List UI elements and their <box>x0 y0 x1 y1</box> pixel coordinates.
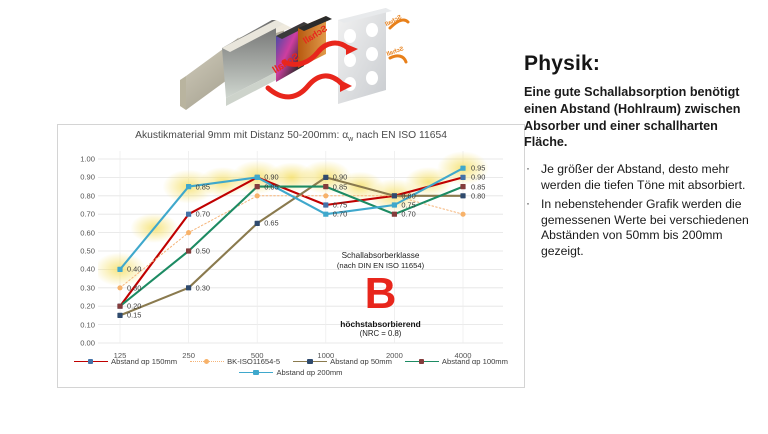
chart-container: Akustikmaterial 9mm mit Distanz 50-200mm… <box>57 124 525 388</box>
bullet-item: ·In nebenstehender Grafik werden die gem… <box>524 197 762 260</box>
bullet-text: Je größer der Abstand, desto mehr werden… <box>541 162 745 192</box>
data-point-marker <box>323 184 328 189</box>
legend-label: BK-ISO11654-5 <box>227 357 280 366</box>
point-value-label: 0.65 <box>264 219 278 228</box>
point-value-label: 0.15 <box>127 311 141 320</box>
data-point-marker <box>460 166 465 171</box>
slide-root: Schall Schall Schall Schall Akustikmater… <box>0 0 768 434</box>
point-value-label: 0.20 <box>127 302 141 311</box>
point-value-label: 0.85 <box>333 182 347 191</box>
data-point-marker <box>186 285 191 290</box>
legend-marker-icon <box>204 359 209 364</box>
y-axis-tick-labels: 1.000.900.800.700.600.500.400.300.200.10… <box>61 145 95 353</box>
y-tick-label: 0.10 <box>80 320 95 329</box>
legend-swatch-icon <box>405 358 439 366</box>
data-point-marker <box>117 285 122 290</box>
data-point-marker <box>460 184 465 189</box>
y-tick-label: 0.80 <box>80 191 95 200</box>
data-point-marker <box>323 175 328 180</box>
data-point-marker <box>186 248 191 253</box>
point-value-label: 0.75 <box>401 201 415 210</box>
y-tick-label: 1.00 <box>80 155 95 164</box>
data-point-marker <box>392 212 397 217</box>
point-value-label: 0.85 <box>264 182 278 191</box>
data-point-marker <box>186 230 191 235</box>
y-tick-label: 0.50 <box>80 247 95 256</box>
point-value-label: 0.90 <box>333 173 347 182</box>
point-value-label: 0.50 <box>196 247 210 256</box>
data-point-marker <box>255 184 260 189</box>
point-value-label: 0.75 <box>333 201 347 210</box>
acoustic-panel-illustration: Schall Schall Schall Schall <box>180 2 412 120</box>
data-point-marker <box>117 313 122 318</box>
plot-area: 0.400.300.200.150.850.700.500.300.900.85… <box>98 151 503 347</box>
legend-item[interactable]: Abstand αp 200mm <box>239 368 342 377</box>
data-point-marker <box>117 304 122 309</box>
text-panel: Physik: Eine gute Schallabsorption benöt… <box>524 52 762 263</box>
data-point-marker <box>323 193 328 198</box>
legend-swatch-icon <box>74 358 108 366</box>
point-value-label: 0.70 <box>333 210 347 219</box>
y-tick-label: 0.30 <box>80 283 95 292</box>
data-point-marker <box>323 202 328 207</box>
chart-title: Akustikmaterial 9mm mit Distanz 50-200mm… <box>58 130 524 143</box>
data-point-marker <box>460 175 465 180</box>
legend-label: Abstand αp 50mm <box>330 357 392 366</box>
legend-marker-icon <box>88 359 93 364</box>
legend-item[interactable]: Abstand αp 150mm <box>74 357 177 366</box>
point-value-label: 0.30 <box>127 283 141 292</box>
legend-marker-icon <box>253 370 258 375</box>
data-point-marker <box>392 193 397 198</box>
legend-swatch-icon <box>293 358 327 366</box>
data-point-marker <box>255 193 260 198</box>
bullet-text: In nebenstehender Grafik werden die geme… <box>541 197 749 259</box>
bullet-marker-icon: · <box>526 196 530 212</box>
y-tick-label: 0.70 <box>80 210 95 219</box>
legend-marker-icon <box>419 359 424 364</box>
y-tick-label: 0.60 <box>80 228 95 237</box>
y-tick-label: 0.90 <box>80 173 95 182</box>
point-value-label: 0.85 <box>196 182 210 191</box>
legend-item[interactable]: Abstand αp 50mm <box>293 357 392 366</box>
data-point-marker <box>186 212 191 217</box>
y-tick-label: 0.40 <box>80 265 95 274</box>
point-value-label: 0.80 <box>401 191 415 200</box>
point-value-label: 0.30 <box>196 283 210 292</box>
legend-label: Abstand αp 200mm <box>276 368 342 377</box>
data-point-marker <box>460 193 465 198</box>
legend-label: Abstand αp 150mm <box>111 357 177 366</box>
data-point-marker <box>117 267 122 272</box>
legend-item[interactable]: Abstand αp 100mm <box>405 357 508 366</box>
data-point-marker <box>460 212 465 217</box>
point-value-label: 0.90 <box>471 173 485 182</box>
point-value-label: 0.85 <box>471 182 485 191</box>
legend-swatch-icon <box>239 369 273 377</box>
data-point-marker <box>323 212 328 217</box>
data-point-marker <box>255 221 260 226</box>
point-value-label: 0.90 <box>264 173 278 182</box>
data-point-marker <box>186 184 191 189</box>
point-value-label: 0.95 <box>471 164 485 173</box>
point-value-label: 0.80 <box>471 191 485 200</box>
legend-swatch-icon <box>190 358 224 366</box>
point-value-label: 0.40 <box>127 265 141 274</box>
page-title: Physik: <box>524 52 762 75</box>
point-value-label: 0.70 <box>401 210 415 219</box>
perforated-board <box>338 8 392 104</box>
chart-legend: Abstand αp 150mmBK-ISO11654-5Abstand αp … <box>58 357 524 377</box>
data-point-marker <box>255 175 260 180</box>
data-point-marker <box>392 202 397 207</box>
bullet-list: ·Je größer der Abstand, desto mehr werde… <box>524 162 762 260</box>
lead-paragraph: Eine gute Schallabsorption benötigt eine… <box>524 84 762 151</box>
legend-label: Abstand αp 100mm <box>442 357 508 366</box>
point-value-label: 0.70 <box>196 210 210 219</box>
bullet-marker-icon: · <box>526 161 530 177</box>
legend-item[interactable]: BK-ISO11654-5 <box>190 357 280 366</box>
legend-marker-icon <box>307 359 312 364</box>
y-tick-label: 0.00 <box>80 339 95 348</box>
y-tick-label: 0.20 <box>80 302 95 311</box>
bullet-item: ·Je größer der Abstand, desto mehr werde… <box>524 162 762 194</box>
